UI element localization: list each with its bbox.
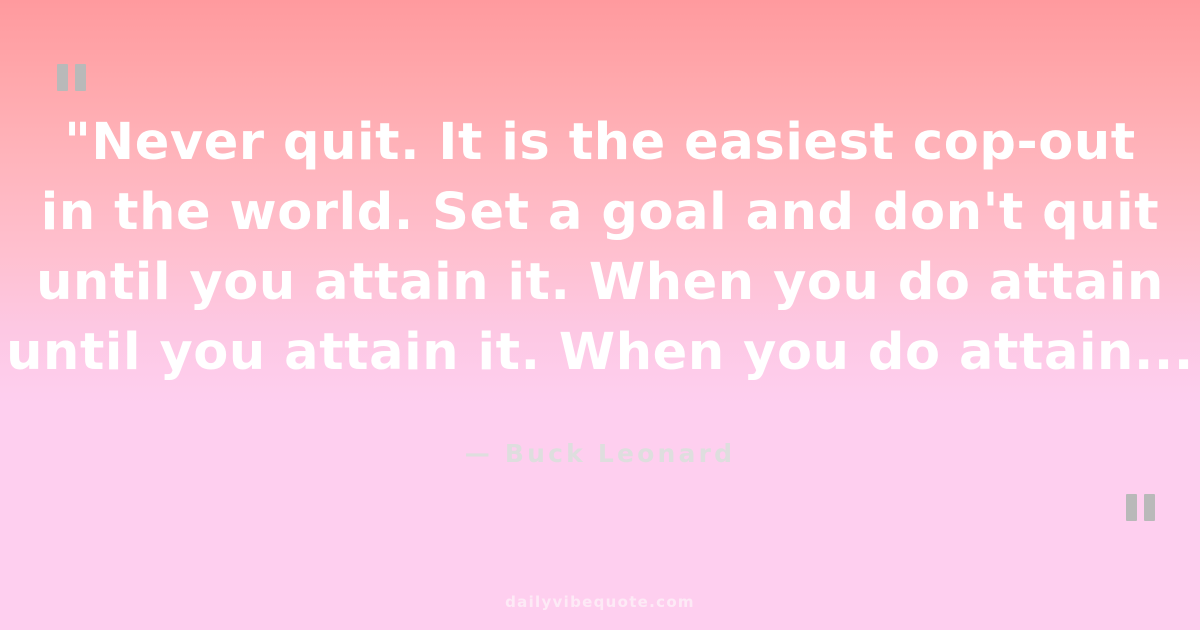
quote-bar-right [75,64,86,91]
quote-card: "Never quit. It is the easiest cop-out i… [0,0,1200,630]
close-quote-mark-icon [1126,494,1155,521]
quote-bar-left [57,64,68,91]
quote-text: "Never quit. It is the easiest cop-out i… [0,108,1200,388]
quote-line-1: "Never quit. It is the easiest cop-out [0,108,1200,178]
site-watermark: dailyvibequote.com [0,592,1200,612]
open-quote-mark-icon [57,64,86,91]
quote-line-2: in the world. Set a goal and don't quit [0,178,1200,248]
quote-bar-right [1144,494,1155,521]
quote-bar-left [1126,494,1137,521]
quote-line-4: until you attain it. When you do attain.… [0,318,1200,388]
quote-author: — Buck Leonard [0,436,1200,472]
quote-line-3: until you attain it. When you do attain [0,248,1200,318]
